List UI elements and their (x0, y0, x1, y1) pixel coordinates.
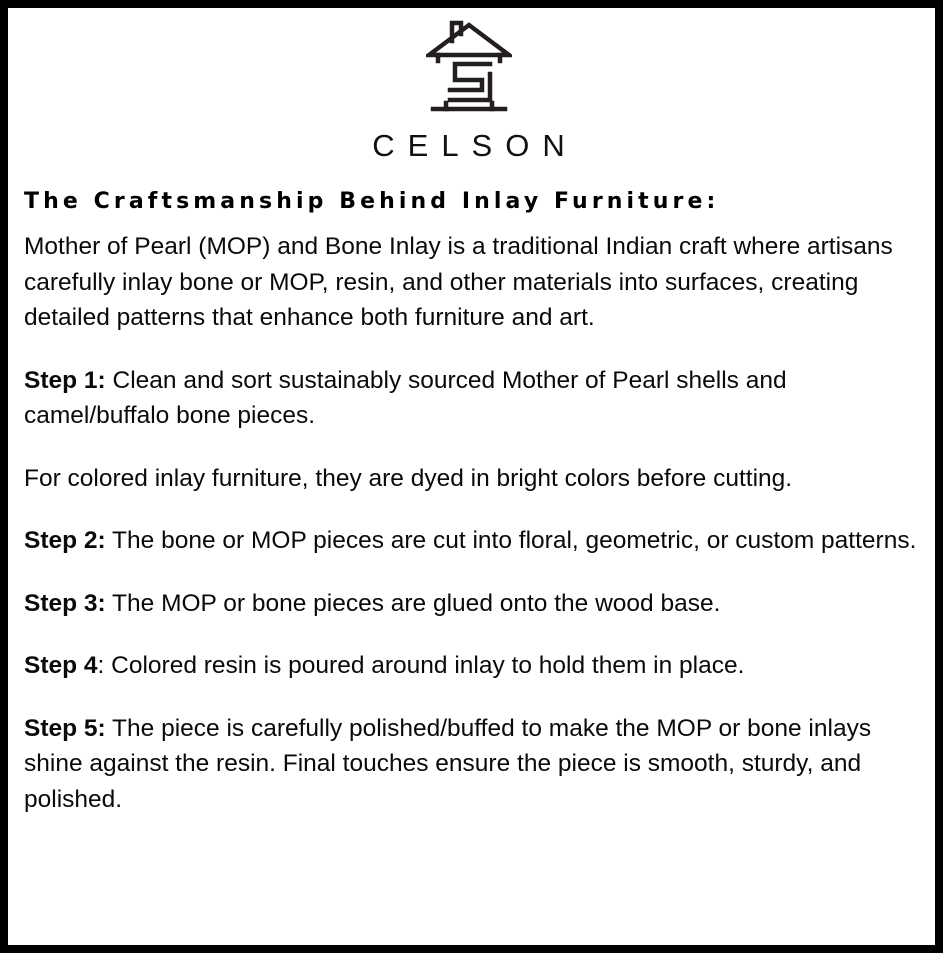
step-3-text: The MOP or bone pieces are glued onto th… (106, 590, 721, 617)
step-4-text: : Colored resin is poured around inlay t… (98, 652, 745, 679)
step-1-label: Step 1: (24, 367, 106, 394)
paragraph-text: For colored inlay furniture, they are dy… (24, 465, 792, 492)
paragraph-step-4: Step 4: Colored resin is poured around i… (24, 648, 920, 684)
paragraph-text: Mother of Pearl (MOP) and Bone Inlay is … (24, 233, 893, 331)
paragraph-colored-inlay-note: For colored inlay furniture, they are dy… (24, 461, 920, 497)
step-5-label: Step 5: (24, 715, 106, 742)
brand-block: CELSON (16, 12, 921, 161)
step-3-label: Step 3: (24, 590, 106, 617)
poster-card: CELSON The Craftsmanship Behind Inlay Fu… (0, 0, 943, 953)
step-1-text: Clean and sort sustainably sourced Mothe… (24, 367, 787, 430)
step-2-text: The bone or MOP pieces are cut into flor… (106, 527, 917, 554)
paragraph-intro: Mother of Pearl (MOP) and Bone Inlay is … (24, 229, 920, 336)
step-5-text: The piece is carefully polished/buffed t… (24, 715, 871, 813)
paragraph-step-1: Step 1: Clean and sort sustainably sourc… (24, 363, 920, 434)
brand-wordmark: CELSON (16, 130, 921, 161)
step-2-label: Step 2: (24, 527, 106, 554)
step-4-label: Step 4 (24, 652, 98, 679)
article-body: Mother of Pearl (MOP) and Bone Inlay is … (24, 215, 921, 817)
paragraph-step-3: Step 3: The MOP or bone pieces are glued… (24, 586, 920, 622)
paragraph-step-5: Step 5: The piece is carefully polished/… (24, 711, 920, 818)
page-title: The Craftsmanship Behind Inlay Furniture… (24, 189, 921, 215)
house-with-s-monogram-icon (426, 18, 512, 118)
paragraph-step-2: Step 2: The bone or MOP pieces are cut i… (24, 523, 920, 559)
poster-inner: CELSON The Craftsmanship Behind Inlay Fu… (8, 8, 935, 945)
